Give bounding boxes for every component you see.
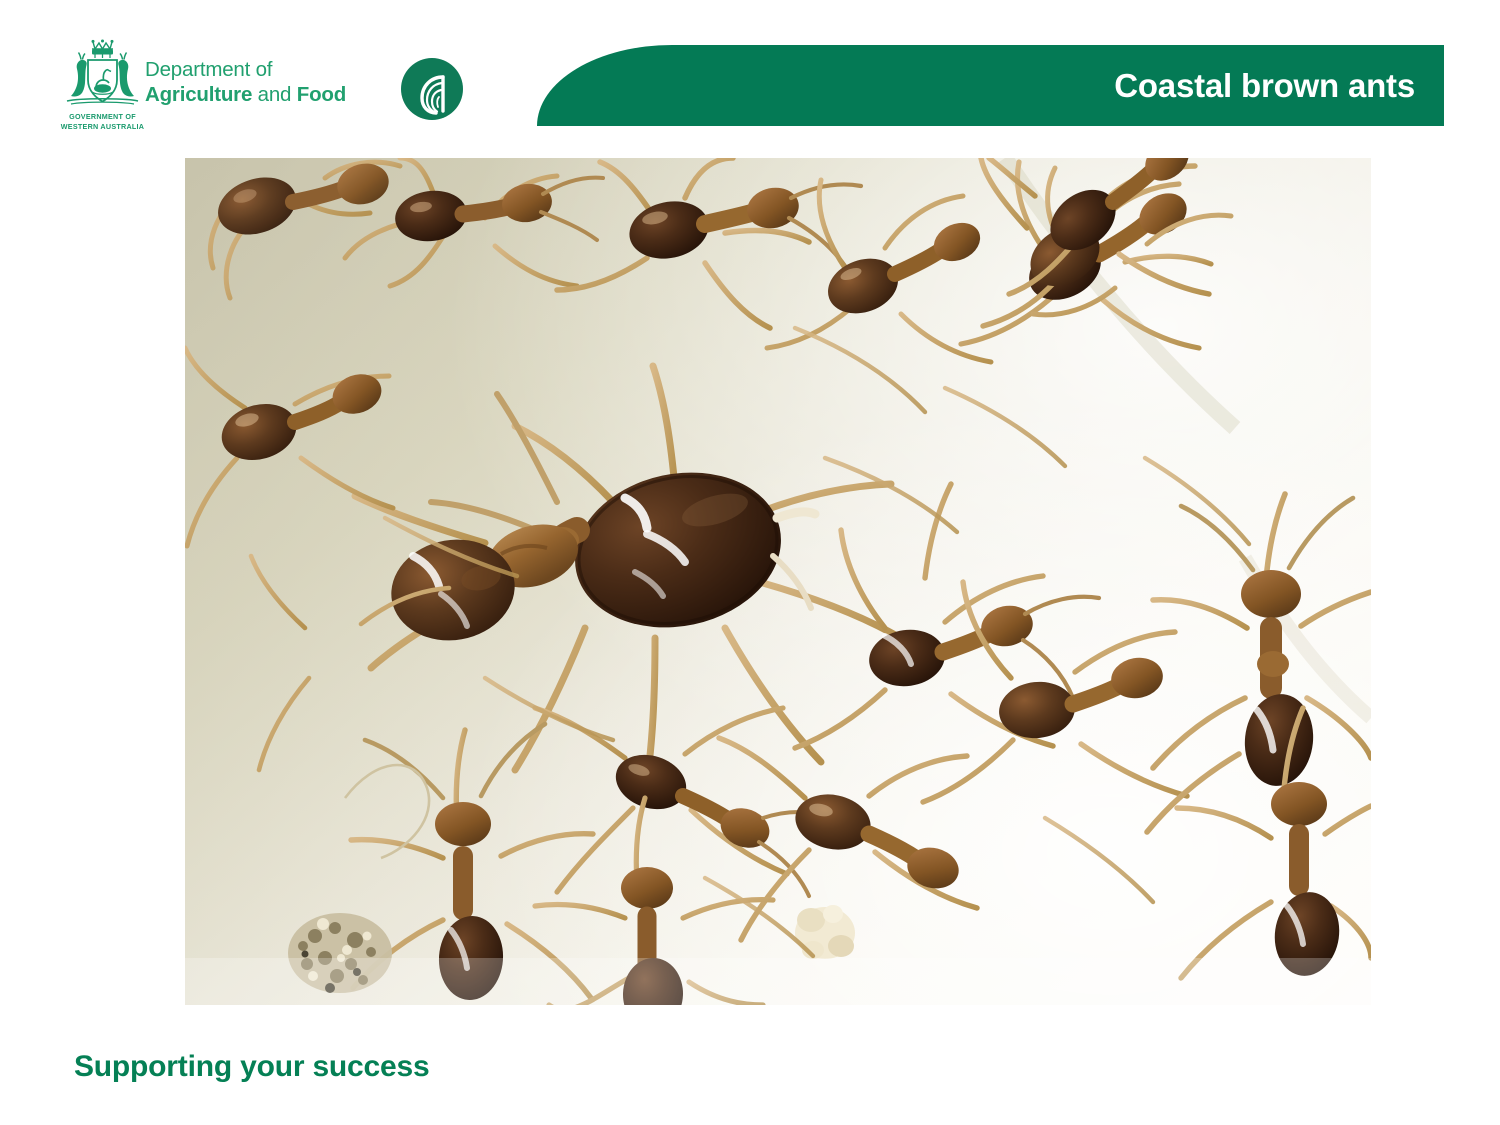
coastal-brown-ants-photograph	[185, 158, 1371, 1005]
wordmark-line-department: Department of	[145, 57, 346, 82]
title-banner: Coastal brown ants	[537, 45, 1444, 126]
crest-caption-line2: WESTERN AUSTRALIA	[61, 122, 144, 131]
department-wordmark: Department of Agriculture and Food	[145, 57, 346, 107]
agriculture-circle-a-icon	[398, 55, 466, 123]
department-logo: GOVERNMENT OF WESTERN AUSTRALIA Departme…	[55, 38, 355, 138]
crest-caption: GOVERNMENT OF WESTERN AUSTRALIA	[55, 112, 150, 131]
page-title: Coastal brown ants	[1114, 67, 1415, 105]
wordmark-and: and	[252, 83, 297, 106]
footer-tagline: Supporting your success	[74, 1050, 429, 1084]
wordmark-line-agriculture-and-food: Agriculture and Food	[145, 82, 346, 107]
slide-header: GOVERNMENT OF WESTERN AUSTRALIA Departme…	[0, 0, 1500, 140]
slide-footer: Supporting your success	[0, 1050, 1500, 1110]
wa-government-crest-icon: GOVERNMENT OF WESTERN AUSTRALIA	[55, 38, 150, 138]
crest-caption-line1: GOVERNMENT OF	[69, 112, 136, 121]
wordmark-agriculture: Agriculture	[145, 83, 252, 106]
wordmark-food: Food	[297, 83, 346, 106]
